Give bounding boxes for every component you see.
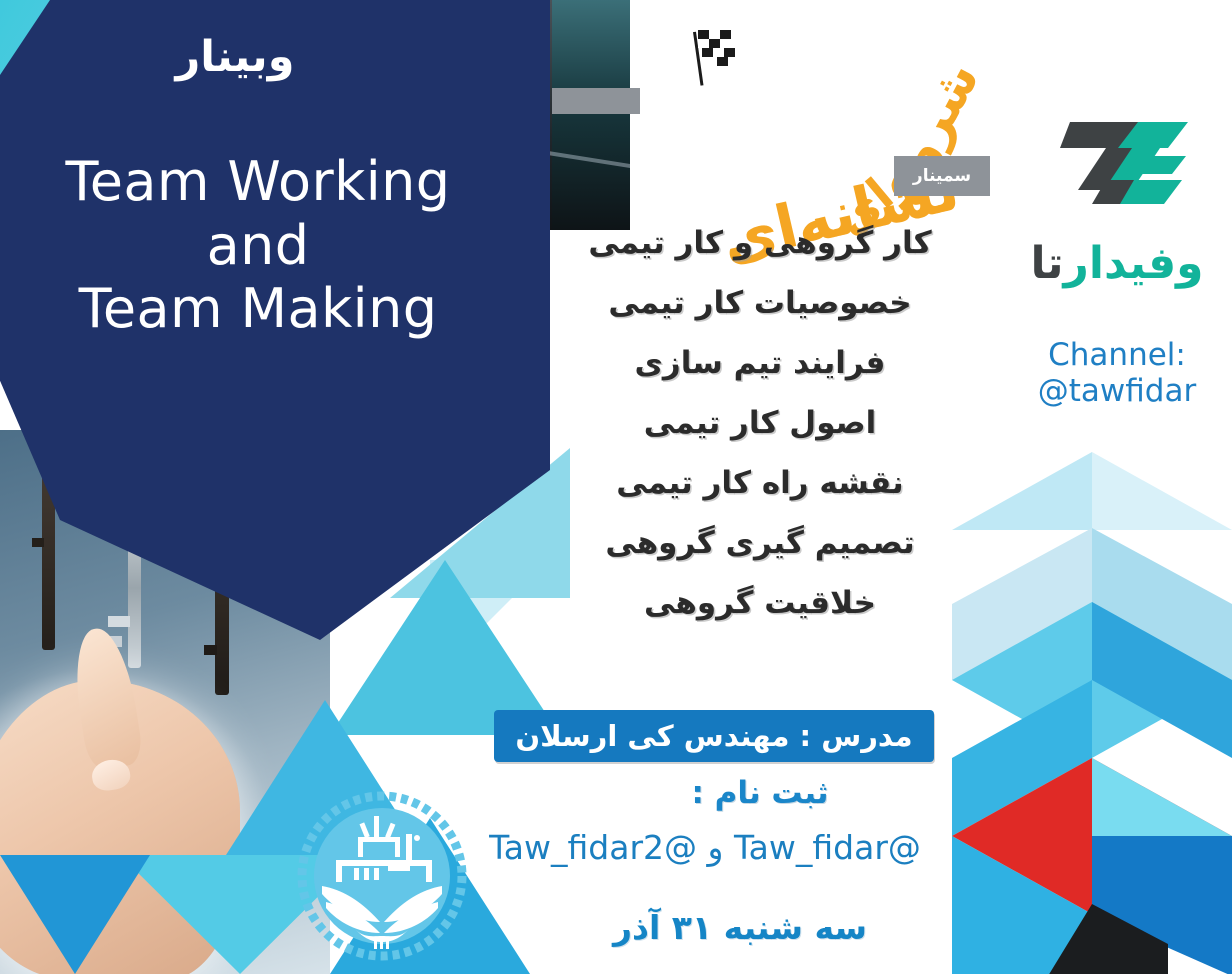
cube-face-top-left bbox=[952, 452, 1092, 530]
topics-list: کار گروهی و کار تیمی خصوصیات کار تیمی فر… bbox=[560, 228, 960, 648]
list-item: تصمیم گیری گروهی bbox=[560, 528, 960, 559]
photo-band-primary bbox=[552, 0, 630, 230]
seminar-label-badge: سمینار bbox=[894, 156, 990, 196]
instructor-badge: مدرس : مهندس کی ارسلان bbox=[494, 710, 934, 762]
title-line-1: Team Working bbox=[0, 150, 516, 214]
tf-monogram-icon bbox=[1060, 118, 1192, 214]
channel-handle[interactable]: @tawfidar bbox=[1008, 374, 1226, 410]
webinar-kicker: وبینار bbox=[0, 36, 470, 79]
tehran-university-emblem-icon bbox=[296, 790, 468, 962]
list-item: خصوصیات کار تیمی bbox=[560, 288, 960, 319]
channel-label: Channel: bbox=[1008, 338, 1226, 374]
brand-name-teal: وفیدار bbox=[1064, 238, 1204, 289]
list-item: نقشه راه کار تیمی bbox=[560, 468, 960, 499]
registration-label: ثبت نام : bbox=[560, 775, 960, 811]
key-bit-upper bbox=[108, 616, 130, 627]
poster-canvas: وبینار Team Working and Team Making bbox=[0, 0, 1232, 974]
brand-name: وفیدارتا bbox=[1010, 238, 1224, 289]
title-line-3: Team Making bbox=[0, 277, 516, 341]
list-item: خلاقیت گروهی bbox=[560, 588, 960, 619]
cube-face-top-right bbox=[1092, 452, 1232, 530]
page-title: Team Working and Team Making bbox=[0, 150, 516, 341]
title-line-2: and bbox=[0, 214, 516, 278]
registration-handles[interactable]: @Taw_fidar و @Taw_fidar2 bbox=[470, 828, 940, 867]
event-date: سه شنبه ۳۱ آذر bbox=[540, 908, 940, 947]
list-item: اصول کار تیمی bbox=[560, 408, 960, 439]
decorative-gray-bar bbox=[552, 88, 640, 114]
list-item: کار گروهی و کار تیمی bbox=[560, 228, 960, 259]
list-item: فرایند تیم سازی bbox=[560, 348, 960, 379]
checkered-flag-icon bbox=[690, 28, 764, 86]
brand-name-dark: تا bbox=[1031, 238, 1064, 289]
channel-info: Channel: @tawfidar bbox=[1008, 338, 1226, 409]
isometric-cube-decoration bbox=[952, 452, 1232, 974]
